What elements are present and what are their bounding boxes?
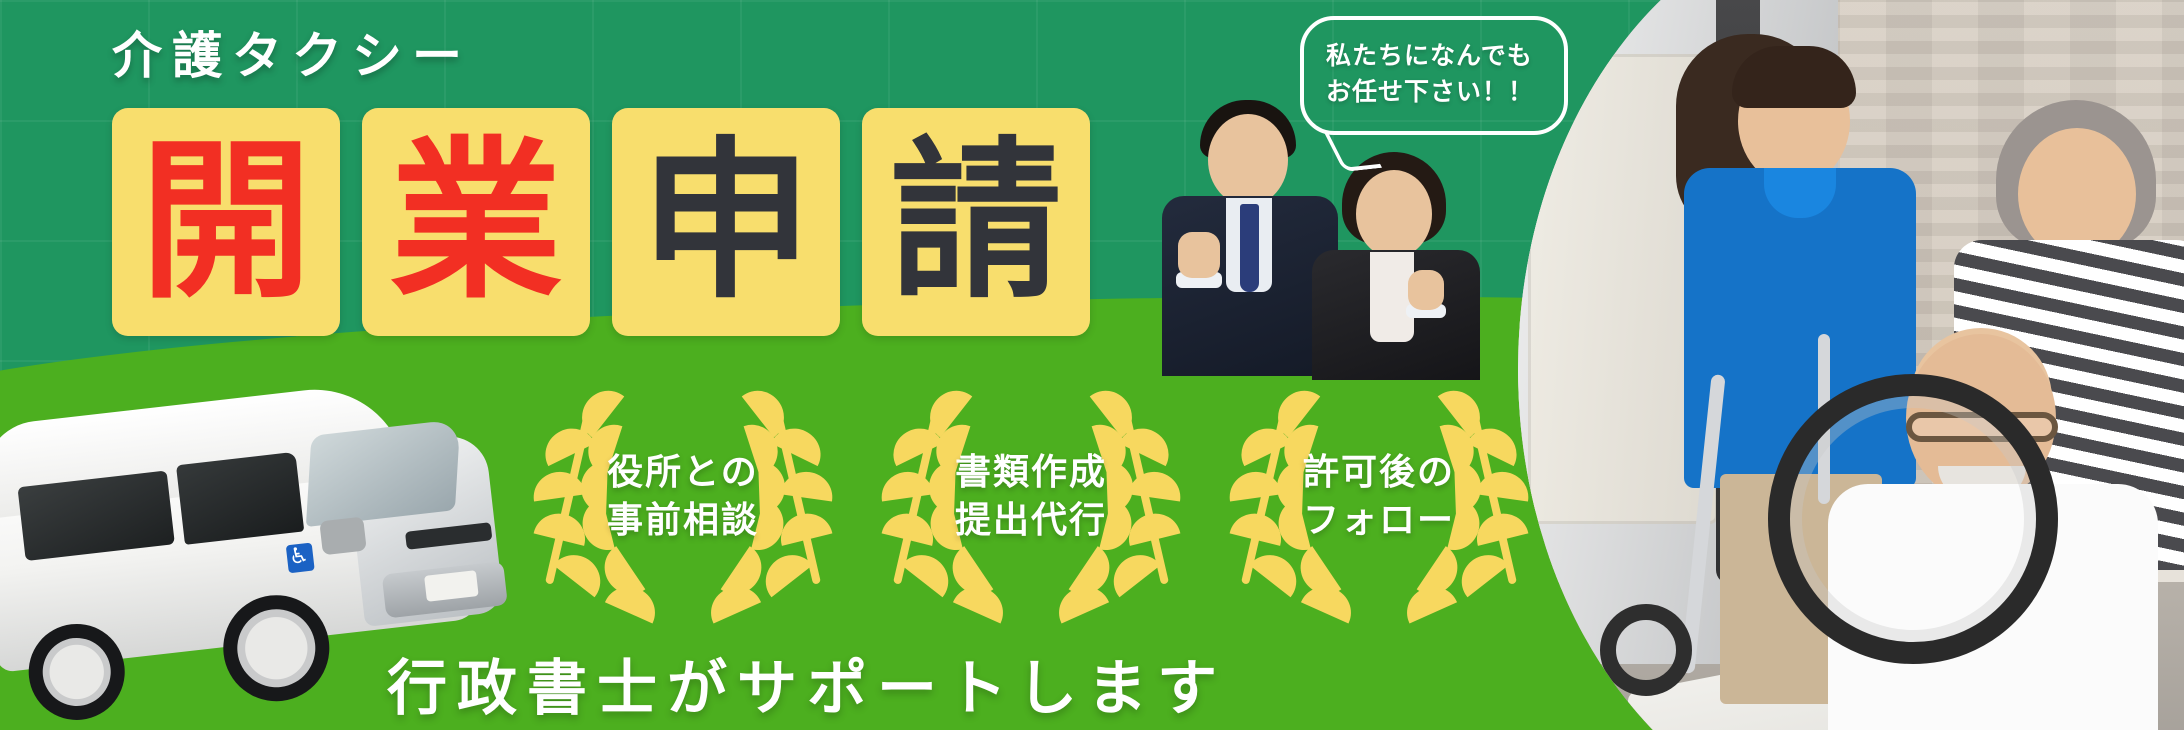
speech-bubble-line-2: お任せ下さい！！: [1326, 74, 1542, 110]
service-badge-2: 書類作成 提出代行: [868, 372, 1194, 622]
care-taxi-banner: 介護タクシー 開 業 申 請: [0, 0, 2184, 730]
consultant-woman: [1312, 152, 1482, 374]
service-badges: 役所との 事前相談: [520, 372, 1542, 622]
headline-kanji-row: 開 業 申 請: [112, 108, 1090, 336]
face: [1208, 114, 1288, 206]
raised-fist: [1408, 270, 1444, 310]
service-badge-1-line-1: 役所との: [607, 449, 759, 497]
kanji-tile-1: 開: [112, 108, 340, 336]
service-badge-2-text: 書類作成 提出代行: [955, 449, 1107, 545]
speech-bubble: 私たちになんでも お任せ下さい！！: [1300, 16, 1568, 135]
van-side-mirror: [319, 517, 367, 556]
kanji-tile-3: 申: [612, 108, 840, 336]
service-badge-3-text: 許可後の フォロー: [1303, 449, 1455, 545]
caregiving-photo: [1518, 0, 2184, 730]
wheelchair-large-wheel: [1768, 374, 2058, 664]
face: [1356, 170, 1432, 258]
necktie: [1240, 204, 1259, 292]
van-windshield: [306, 419, 461, 527]
service-badge-2-line-1: 書類作成: [955, 449, 1107, 497]
kanji-tile-2: 業: [362, 108, 590, 336]
service-badge-3-line-2: フォロー: [1303, 497, 1455, 545]
kanji-tile-1-char: 開: [140, 136, 312, 308]
service-badge-2-line-2: 提出代行: [955, 497, 1107, 545]
raised-fist: [1178, 232, 1220, 278]
consultant-duo-photo: [1160, 100, 1480, 370]
kanji-tile-4: 請: [862, 108, 1090, 336]
service-badge-3: 許可後の フォロー: [1216, 372, 1542, 622]
wheelchair-accessible-icon: [286, 543, 315, 574]
fringe: [1732, 46, 1856, 108]
kanji-tile-4-char: 請: [890, 136, 1062, 308]
page-kicker: 介護タクシー: [112, 16, 472, 88]
banner-tagline: 行政書士がサポートします: [0, 640, 2184, 727]
speech-bubble-line-1: 私たちになんでも: [1326, 38, 1542, 74]
kanji-tile-3-char: 申: [640, 136, 812, 308]
service-badge-1-text: 役所との 事前相談: [607, 449, 759, 545]
service-badge-1: 役所との 事前相談: [520, 372, 846, 622]
kanji-tile-2-char: 業: [390, 136, 562, 308]
van-side-window: [176, 452, 304, 545]
service-badge-3-line-1: 許可後の: [1303, 449, 1455, 497]
service-badge-1-line-2: 事前相談: [607, 497, 759, 545]
